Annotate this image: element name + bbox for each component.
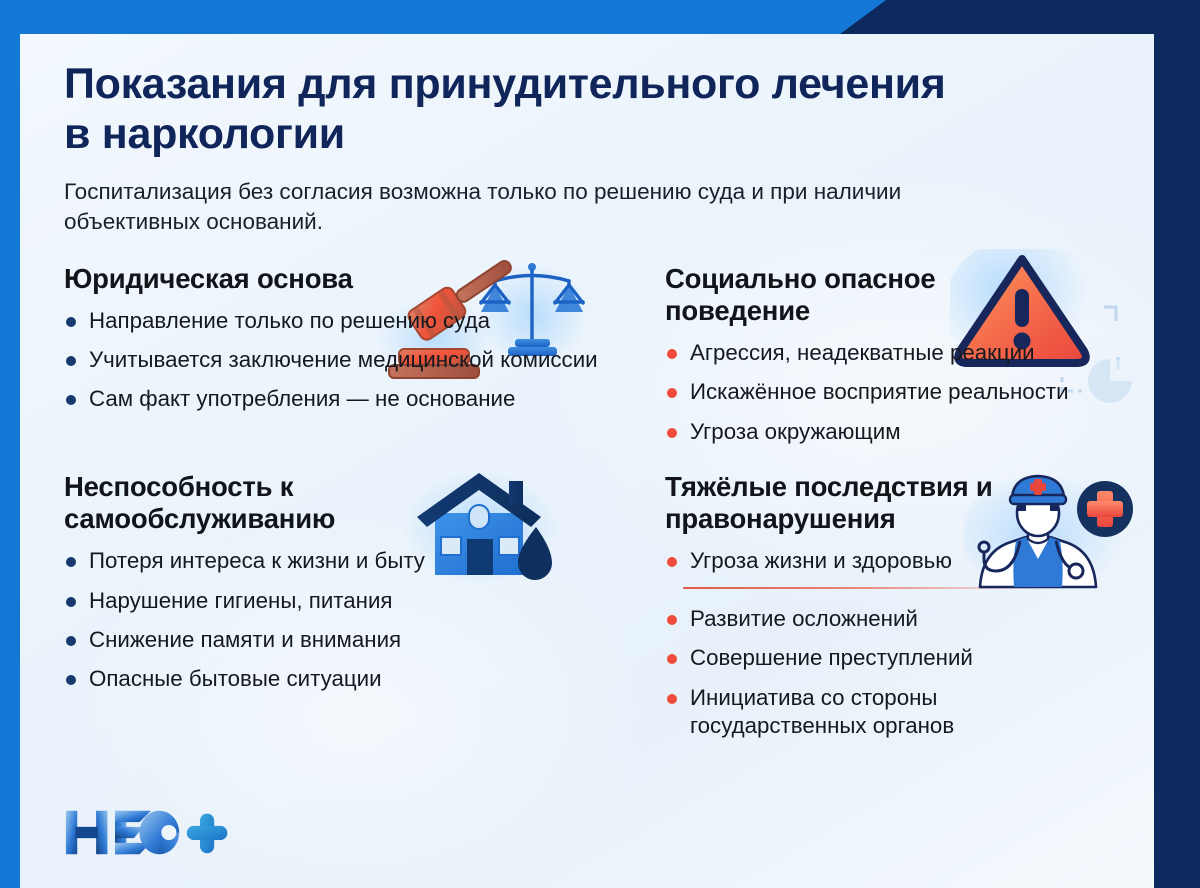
section-heading: Социально опасное поведение	[665, 263, 1065, 327]
list-item: Агрессия, неадекватные реакции	[665, 339, 1106, 367]
bullet-list: Развитие осложнений Совершение преступле…	[665, 605, 1106, 740]
list-item: Потеря интереса к жизни и быту	[64, 547, 637, 575]
list-item: Совершение преступлений	[665, 644, 1106, 672]
list-item: Угроза жизни и здоровью	[665, 547, 1106, 575]
logo-neo-plus	[64, 805, 234, 860]
page-subtitle: Госпитализация без согласия возможна тол…	[64, 177, 994, 237]
section-self-care-inability: Неспособность к самообслуживанию	[64, 471, 649, 751]
section-dangerous-behavior: Социально опасное поведение	[649, 263, 1118, 457]
brand-logo	[64, 805, 234, 860]
list-item: Снижение памяти и внимания	[64, 626, 637, 654]
list-item: Искажённое восприятие реальности	[665, 378, 1106, 406]
section-divider	[683, 587, 1053, 590]
bullet-list: Угроза жизни и здоровью	[665, 547, 1106, 575]
bullet-list: Потеря интереса к жизни и быту Нарушение…	[64, 547, 637, 693]
left-edge-bar	[0, 0, 20, 888]
bullet-list: Направление только по решению суда Учиты…	[64, 307, 637, 414]
section-legal-basis: Юридическая основа	[64, 263, 649, 457]
list-item: Нарушение гигиены, питания	[64, 587, 637, 615]
list-item: Учитывается заключение медицинской комис…	[64, 346, 637, 374]
list-item: Направление только по решению суда	[64, 307, 637, 335]
sections-grid: Юридическая основа	[64, 263, 1118, 752]
list-item: Сам факт употребления — не основание	[64, 385, 637, 413]
section-heading: Юридическая основа	[64, 263, 484, 295]
list-item: Развитие осложнений	[665, 605, 1106, 633]
list-item: Инициатива со стороны государственных ор…	[665, 684, 1106, 741]
section-heading: Неспособность к самообслуживанию	[64, 471, 484, 535]
section-heading: Тяжёлые последствия и правонарушения	[665, 471, 1065, 535]
list-item: Опасные бытовые ситуации	[64, 665, 637, 693]
section-severe-consequences: Тяжёлые последствия и правонарушения	[649, 471, 1118, 751]
right-edge-bar	[1154, 0, 1200, 888]
bullet-list: Агрессия, неадекватные реакции Искажённо…	[665, 339, 1106, 446]
infographic-card: Показания для принудительного лечения в …	[20, 34, 1154, 888]
list-item: Угроза окружающим	[665, 418, 1106, 446]
top-bar-navy-wedge	[840, 0, 1200, 34]
page-title: Показания для принудительного лечения в …	[64, 60, 964, 160]
